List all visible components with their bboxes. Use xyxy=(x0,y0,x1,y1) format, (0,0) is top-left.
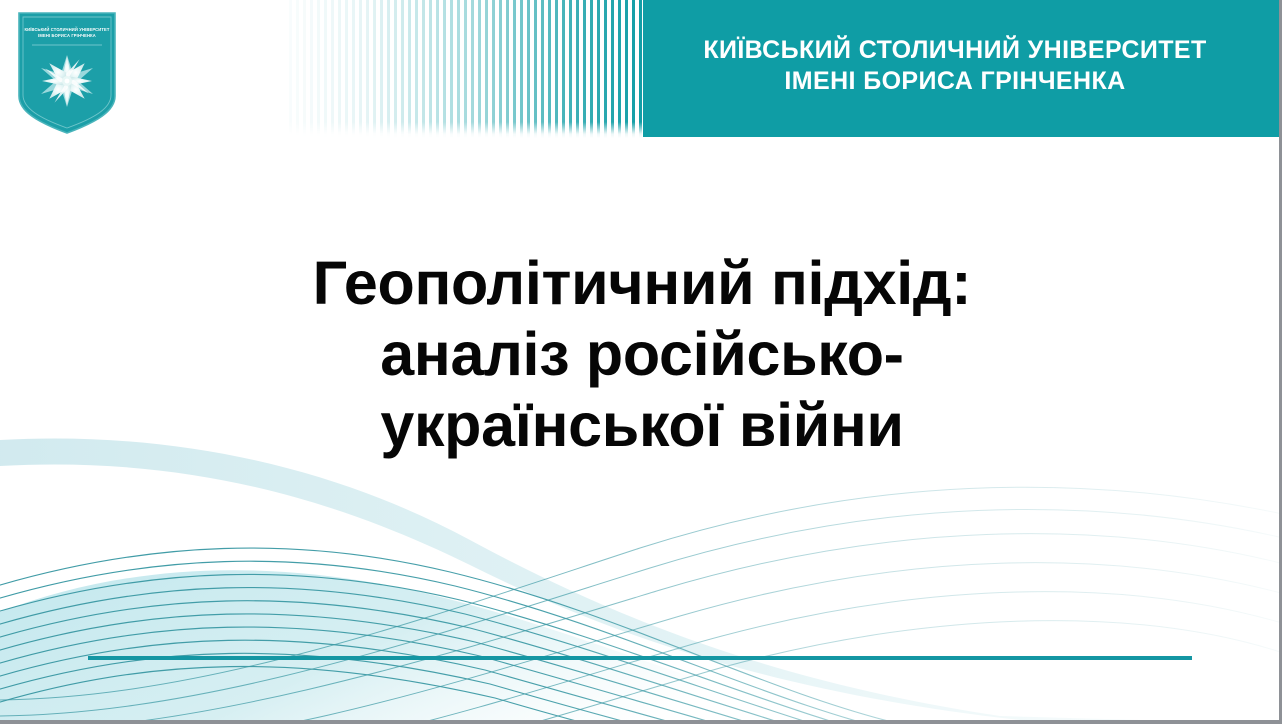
presentation-slide: КИЇВСЬКИЙ СТОЛИЧНИЙ УНІВЕРСИТЕТ ІМЕНІ БО… xyxy=(0,0,1282,724)
striped-gradient-decoration xyxy=(285,0,645,138)
shield-icon xyxy=(18,12,116,134)
slide-title: Геополітичний підхід: аналіз російсько-у… xyxy=(262,248,1022,460)
wave-ribbon xyxy=(0,438,1282,724)
university-name: КИЇВСЬКИЙ СТОЛИЧНИЙ УНІВЕРСИТЕТ ІМЕНІ БО… xyxy=(643,0,1267,137)
wave-line-bundle xyxy=(0,548,1035,724)
wave-fill-area xyxy=(0,570,840,724)
title-underline-rule xyxy=(88,656,1192,660)
university-name-line-1: КИЇВСЬКИЙ СТОЛИЧНИЙ УНІВЕРСИТЕТ xyxy=(703,35,1206,66)
university-name-line-2: ІМЕНІ БОРИСА ГРІНЧЕНКА xyxy=(784,66,1125,97)
slide-header-band: КИЇВСЬКИЙ СТОЛИЧНИЙ УНІВЕРСИТЕТ ІМЕНІ БО… xyxy=(0,0,1282,138)
wave-arc-bundle xyxy=(0,487,1282,724)
university-logo: КИЇВСЬКИЙ СТОЛИЧНИЙ УНІВЕРСИТЕТ ІМЕНІ БО… xyxy=(18,12,116,134)
